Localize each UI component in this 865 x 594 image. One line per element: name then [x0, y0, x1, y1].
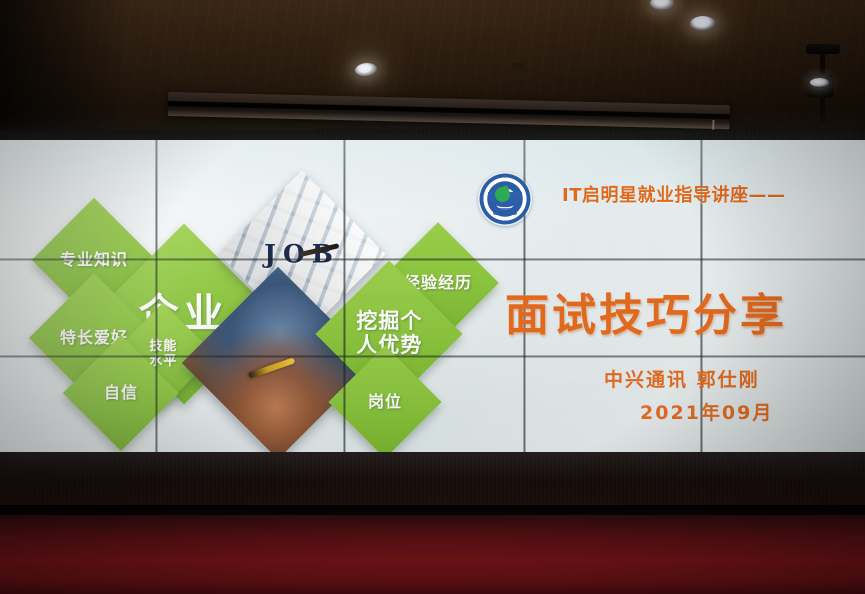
recessed-downlight-icon [354, 62, 377, 77]
photograph-scene: 专业知识 企业 特长爱好 技能 水平 自信 JOB [0, 0, 865, 594]
slide-date: 2021年09月 [640, 398, 773, 425]
ceiling-vent [512, 63, 525, 70]
slide-presenter: 中兴通讯 郭仕刚 [604, 365, 760, 392]
slide-title: 面试技巧分享 [505, 279, 787, 343]
screen-slot [168, 101, 730, 119]
spotlight-icon [810, 78, 829, 87]
recessed-downlight-icon [650, 0, 674, 10]
stage-floor [0, 515, 865, 594]
emblem-banner [493, 208, 517, 215]
video-wall-seam [0, 258, 865, 261]
video-wall-seam [0, 355, 865, 358]
video-wall-seam [343, 140, 346, 452]
ceiling-shadow-left [0, 0, 130, 150]
wooden-ceiling [0, 0, 865, 150]
slide-header-text: IT启明星就业指导讲座—— [562, 181, 785, 207]
school-emblem-icon [478, 172, 532, 226]
writing-pen-icon [248, 357, 295, 378]
video-wall-seam [155, 140, 158, 452]
recessed-downlight-icon [690, 16, 716, 31]
ceiling-cable [4, 0, 7, 60]
